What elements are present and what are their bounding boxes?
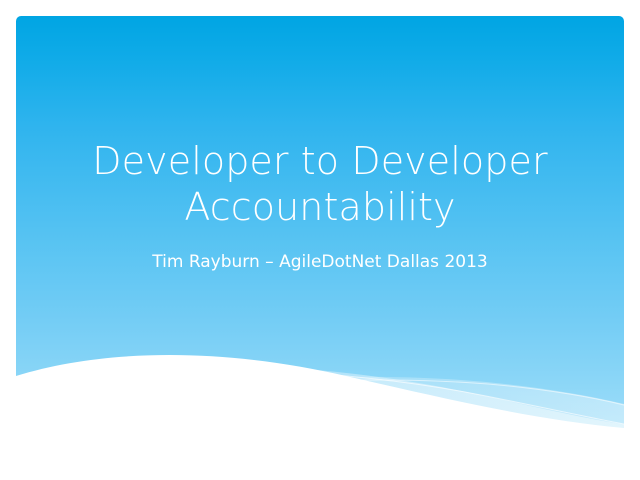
bottom-wave-swoosh (16, 320, 624, 440)
title-slide: Developer to Developer Accountability Ti… (0, 0, 640, 480)
slide-subtitle: Tim Rayburn – AgileDotNet Dallas 2013 (70, 251, 570, 273)
page-title: Developer to Developer Accountability (70, 138, 570, 230)
